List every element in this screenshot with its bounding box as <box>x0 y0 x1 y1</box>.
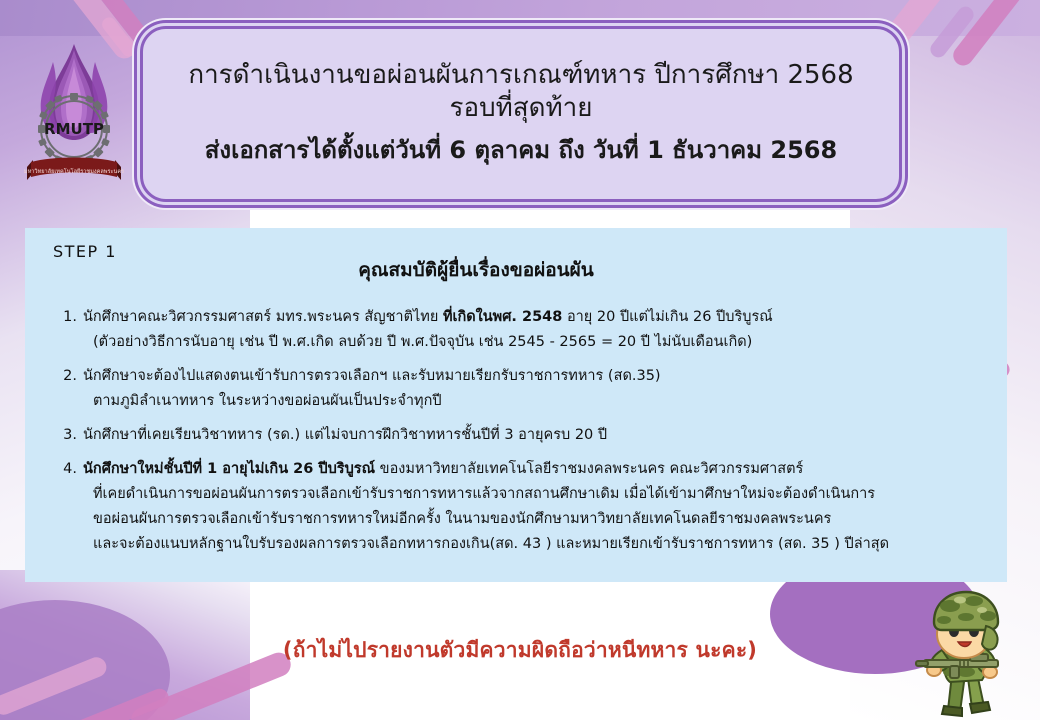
emphasis-text: นักศึกษาใหม่ชั้นปีที่ 1 อายุไม่เกิน 26 ป… <box>83 461 375 477</box>
qualification-item: 3. นักศึกษาที่เคยเรียนวิชาทหาร (รด.) แต่… <box>49 423 989 448</box>
qualification-item-number: 2. <box>51 364 77 389</box>
header-title-line-1: การดำเนินงานขอผ่อนผันการเกณฑ์ทหาร ปีการศ… <box>157 59 885 92</box>
rmutp-ribbon: มหาวิทยาลัยเทคโนโลยีราชมงคลพระนคร <box>24 158 124 181</box>
qualification-item: 4.นักศึกษาใหม่ชั้นปีที่ 1 อายุไม่เกิน 26… <box>49 457 989 557</box>
qualification-item-line: นักศึกษาคณะวิศวกรรมศาสตร์ มทร.พระนคร สัญ… <box>83 305 989 330</box>
panel-title: คุณสมบัติผู้ยื่นเรื่องขอผ่อนผัน <box>43 255 909 285</box>
rmutp-ribbon-text: มหาวิทยาลัยเทคโนโลยีราชมงคลพระนคร <box>24 167 124 175</box>
qualifications-panel: STEP 1 คุณสมบัติผู้ยื่นเรื่องขอผ่อนผัน 1… <box>25 228 1007 582</box>
cartoon-soldier-icon <box>894 586 1034 718</box>
qualification-item-line: ตามภูมิลำเนาทหาร ในระหว่างขอผ่อนผันเป็นป… <box>83 389 989 414</box>
header-banner: การดำเนินงานขอผ่อนผันการเกณฑ์ทหาร ปีการศ… <box>140 26 902 202</box>
helmet-icon <box>934 592 998 630</box>
header-title-line-2: รอบที่สุดท้าย <box>157 92 885 125</box>
body-text: นักศึกษาจะต้องไปแสดงตนเข้ารับการตรวจเลือ… <box>83 368 661 384</box>
qualification-item-line: นักศึกษาจะต้องไปแสดงตนเข้ารับการตรวจเลือ… <box>83 364 989 389</box>
body-text: ขอผ่อนผันการตรวจเลือกเข้ารับราชการทหารให… <box>93 511 831 527</box>
qualification-item-line: ขอผ่อนผันการตรวจเลือกเข้ารับราชการทหารให… <box>83 507 989 532</box>
qualification-list: 1.นักศึกษาคณะวิศวกรรมศาสตร์ มทร.พระนคร ส… <box>49 305 989 556</box>
qualification-item: 2.นักศึกษาจะต้องไปแสดงตนเข้ารับการตรวจเล… <box>49 364 989 414</box>
body-text: นักศึกษาที่เคยเรียนวิชาทหาร (รด.) แต่ไม่… <box>83 427 607 443</box>
body-text: นักศึกษาคณะวิศวกรรมศาสตร์ มทร.พระนคร สัญ… <box>83 309 443 325</box>
body-text: อายุ 20 ปีแต่ไม่เกิน 26 ปีบริบูรณ์ <box>562 309 772 325</box>
qualification-item-number: 4. <box>51 457 77 482</box>
qualification-item-line: (ตัวอย่างวิธีการนับอายุ เช่น ปี พ.ศ.เกิด… <box>83 330 989 355</box>
rmutp-logo-icon: RMUTP มหาวิทยาลัยเทคโนโลยีราชมงคลพระนคร <box>13 36 135 196</box>
rmutp-logo: RMUTP มหาวิทยาลัยเทคโนโลยีราชมงคลพระนคร <box>13 36 135 196</box>
qualification-item-line: นักศึกษาใหม่ชั้นปีที่ 1 อายุไม่เกิน 26 ป… <box>83 457 989 482</box>
qualification-item-line: และจะต้องแนบหลักฐานใบรับรองผลการตรวจเลือ… <box>83 532 989 557</box>
qualification-item-number: 1. <box>51 305 77 330</box>
body-text: และจะต้องแนบหลักฐานใบรับรองผลการตรวจเลือ… <box>93 536 889 552</box>
soldier-illustration <box>894 586 1034 718</box>
qualification-item-line: ที่เคยดำเนินการขอผ่อนผันการตรวจเลือกเข้า… <box>83 482 989 507</box>
emphasis-text: ที่เกิดในพศ. 2548 <box>443 309 562 325</box>
qualification-item-line: นักศึกษาที่เคยเรียนวิชาทหาร (รด.) แต่ไม่… <box>83 423 989 448</box>
rmutp-acronym-text: RMUTP <box>44 120 104 138</box>
header-date-range: ส่งเอกสารได้ตั้งแต่วันที่ 6 ตุลาคม ถึง ว… <box>157 135 885 165</box>
body-text: ที่เคยดำเนินการขอผ่อนผันการตรวจเลือกเข้า… <box>93 486 875 502</box>
body-text: ตามภูมิลำเนาทหาร ในระหว่างขอผ่อนผันเป็นป… <box>93 393 442 409</box>
body-text: (ตัวอย่างวิธีการนับอายุ เช่น ปี พ.ศ.เกิด… <box>93 334 752 350</box>
qualification-item-number: 3. <box>51 423 77 448</box>
body-text: ของมหาวิทยาลัยเทคโนโลยีราชมงคลพระนคร คณะ… <box>375 461 803 477</box>
warning-text: (ถ้าไม่ไปรายงานตัวมีความผิดถือว่าหนีทหาร… <box>0 634 1040 667</box>
qualification-item: 1.นักศึกษาคณะวิศวกรรมศาสตร์ มทร.พระนคร ส… <box>49 305 989 355</box>
